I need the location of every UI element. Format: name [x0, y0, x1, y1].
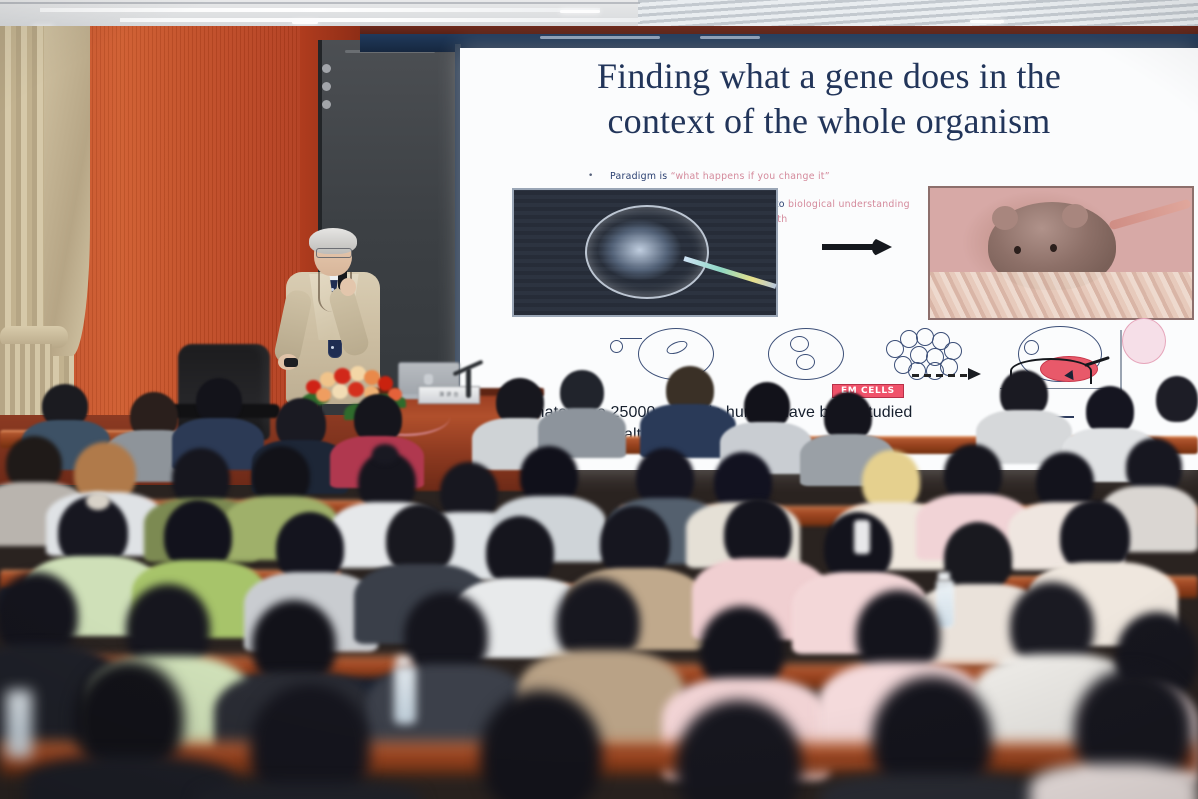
mouse-eye — [1050, 244, 1057, 252]
trophoblast-cell — [1024, 340, 1039, 355]
mouse-tail — [1108, 199, 1191, 231]
slide-title: Finding what a gene does in the context … — [460, 54, 1198, 144]
audience-body-front — [196, 782, 422, 799]
panel-clip-icon — [322, 64, 331, 73]
morula — [886, 328, 966, 380]
bullet-highlight: biological understanding — [788, 199, 910, 210]
ceiling-seam — [0, 2, 640, 4]
ceiling-strip — [40, 8, 600, 12]
slide-image-oocyte-injection — [512, 188, 778, 317]
water-bottle — [936, 580, 954, 628]
bullet-marker: • — [588, 170, 610, 183]
bullet-item: • Paradigm is “what happens if you chang… — [588, 170, 1108, 183]
mouse-tail-line — [1084, 356, 1110, 367]
curtain-fold — [44, 26, 90, 356]
panel-clip-icon — [322, 100, 331, 109]
microphone-stand — [466, 368, 471, 398]
ceiling-light — [292, 21, 318, 24]
ceiling-light — [560, 10, 600, 13]
mouse-ear — [992, 206, 1018, 230]
dashed-arrow-icon — [912, 374, 970, 377]
water-bottle — [394, 666, 416, 724]
hair-bun — [372, 444, 398, 464]
slide-image-mouse — [928, 186, 1194, 320]
blastomere — [796, 354, 815, 370]
bullet-lead: Paradigm is — [610, 171, 671, 182]
pink-cell — [1122, 318, 1166, 364]
slide-title-line2: context of the whole organism — [460, 99, 1198, 144]
hair-clip-icon — [854, 520, 870, 554]
bullet-highlight: “what happens if you change it” — [671, 171, 830, 182]
dashed-arrowhead-icon — [968, 368, 981, 380]
presentation-clicker — [284, 358, 298, 367]
lecture-hall-photo: Finding what a gene does in the context … — [0, 0, 1198, 799]
ceiling-light — [970, 20, 1004, 23]
bullet-text: Paradigm is “what happens if you change … — [610, 170, 830, 183]
audience-body-front — [820, 774, 1046, 799]
slide-title-line1: Finding what a gene does in the — [460, 54, 1198, 99]
ceiling-strip — [120, 18, 640, 22]
bottle-cap — [938, 572, 950, 581]
speaker-right-hand — [340, 278, 356, 296]
bottle-cap — [396, 656, 411, 667]
water-bottle — [6, 690, 32, 758]
cage-bedding — [930, 272, 1192, 318]
hair-clip-icon — [86, 492, 110, 510]
band-glint — [700, 36, 760, 39]
oocyte-outline — [585, 205, 709, 299]
audience-body-front — [1030, 764, 1198, 799]
apple-logo-icon — [424, 374, 433, 385]
audience-head — [1156, 376, 1198, 422]
blastomere — [790, 336, 809, 352]
band-glint — [540, 36, 660, 39]
mouse-eye — [1014, 246, 1021, 254]
speaker-glasses — [316, 248, 352, 258]
panel-clip-icon — [322, 82, 331, 91]
mouse-ear — [1062, 204, 1088, 228]
